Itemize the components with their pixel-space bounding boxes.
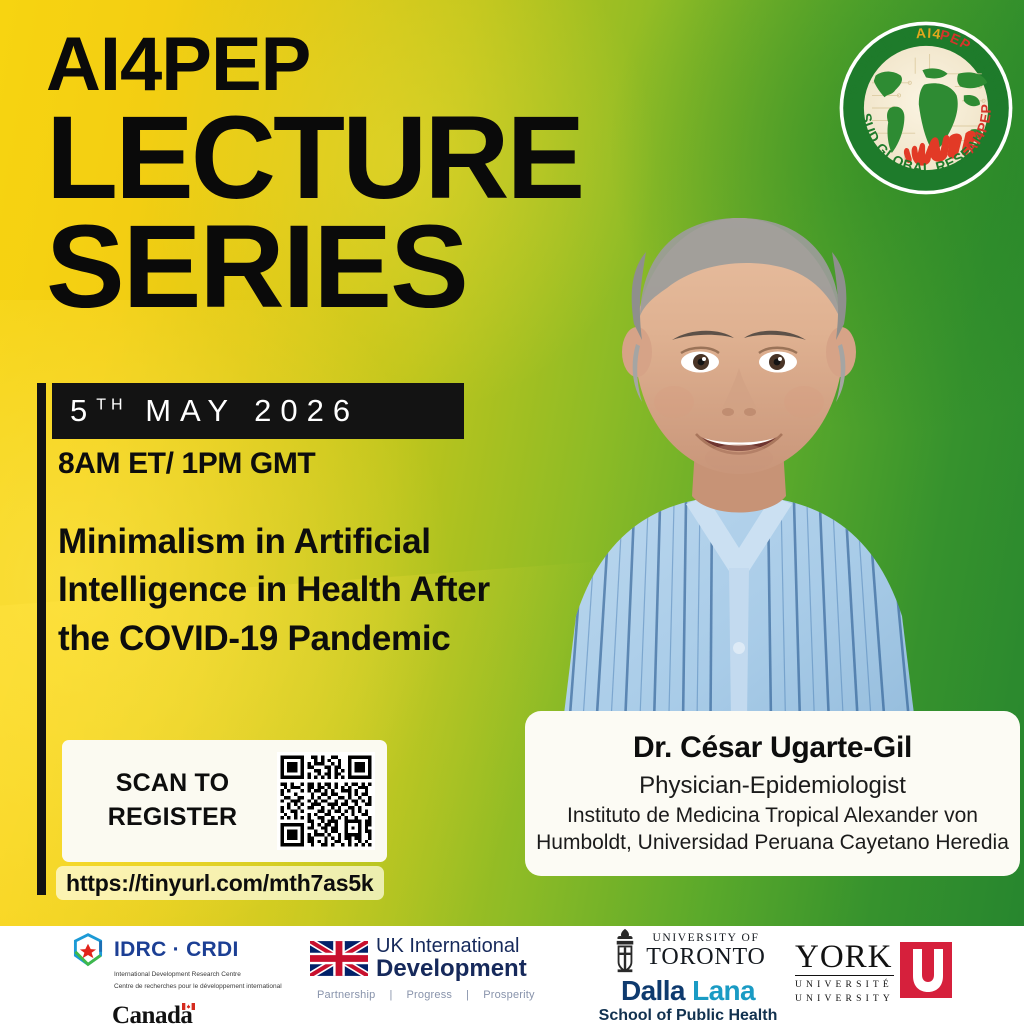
canada-text: Canada xyxy=(112,1002,192,1024)
uoft-crest-icon xyxy=(610,928,640,974)
event-time: 8AM ET/ 1PM GMT xyxy=(58,447,315,481)
logo-ring-text-brand: AI4 xyxy=(915,25,942,43)
uk-international-development-logo: UK International Development Partnership… xyxy=(310,936,535,1001)
idrc-tagline-fr: Centre de recherches pour le développeme… xyxy=(114,982,300,992)
uoft-line-2: TORONTO xyxy=(646,945,765,969)
york-u-mark-icon xyxy=(900,942,952,998)
speaker-role: Physician-Epidemiologist xyxy=(639,772,906,800)
union-jack-icon xyxy=(310,941,368,976)
uk-tagline-sep-1: | xyxy=(389,989,392,1001)
idrc-name: IDRC · CRDI xyxy=(114,938,239,962)
uk-logo-line-1: UK International xyxy=(376,936,527,956)
event-date-band: 5TH MAY 2026 xyxy=(52,383,464,439)
uk-tagline: Partnership|Progress|Prosperity xyxy=(310,989,535,1001)
brand-title: AI4PEP xyxy=(46,28,686,102)
headline-line-1: LECTURE xyxy=(46,104,686,213)
dalla-lana-subtitle: School of Public Health xyxy=(578,1007,798,1024)
york-name: YORK xyxy=(795,942,894,973)
sponsor-footer: IDRC · CRDI International Development Re… xyxy=(0,926,1024,1024)
dalla-word-2: Lana xyxy=(692,975,755,1006)
speaker-affiliation: Instituto de Medicina Tropical Alexander… xyxy=(535,803,1010,857)
speaker-info-card: Dr. César Ugarte-Gil Physician-Epidemiol… xyxy=(525,711,1020,876)
event-date-text: 5TH MAY 2026 xyxy=(52,393,359,429)
york-name-en: UNIVERSITY xyxy=(795,993,894,1006)
idrc-logo: IDRC · CRDI International Development Re… xyxy=(70,932,300,1024)
dalla-lana-name: Dalla Lana xyxy=(578,975,798,1007)
uk-tagline-3: Prosperity xyxy=(483,989,535,1001)
headline-line-2: SERIES xyxy=(46,213,686,322)
york-name-fr: UNIVERSITÉ xyxy=(795,975,894,993)
york-university-logo: YORK UNIVERSITÉ UNIVERSITY xyxy=(795,942,952,1006)
qr-code[interactable] xyxy=(277,752,375,850)
speaker-name: Dr. César Ugarte-Gil xyxy=(633,731,912,765)
university-of-toronto-logo: UNIVERSITY OF TORONTO Dalla Lana School … xyxy=(578,928,798,1024)
vertical-accent-rule xyxy=(37,383,46,895)
uk-tagline-1: Partnership xyxy=(317,989,375,1001)
idrc-mark-icon xyxy=(70,932,106,968)
event-month-year: MAY 2026 xyxy=(145,393,359,428)
registration-url: https://tinyurl.com/mth7as5k xyxy=(66,870,374,897)
lecture-title: Minimalism in Artificial Intelligence in… xyxy=(58,518,548,663)
uk-tagline-sep-2: | xyxy=(466,989,469,1001)
canada-flag-icon xyxy=(182,1003,195,1010)
uk-tagline-2: Progress xyxy=(407,989,453,1001)
event-day: 5 xyxy=(70,393,96,428)
dalla-word-1: Dalla xyxy=(621,975,685,1006)
uk-logo-line-2: Development xyxy=(376,956,527,981)
scan-to-register-label: SCAN TO REGISTER xyxy=(62,767,277,835)
lecture-series-poster: AI4PEP LECTURE SERIES 5TH MAY 2026 8AM E… xyxy=(0,0,1024,1024)
canada-wordmark: Canada xyxy=(112,1002,192,1024)
ai4pep-network-logo-icon: ·GLOBAL SOUTH AI4 PEP NETWORK· SUD GLOBA… xyxy=(836,18,1016,198)
idrc-tagline-en: International Development Research Centr… xyxy=(114,970,300,980)
poster-headline: AI4PEP LECTURE SERIES xyxy=(46,28,686,322)
event-day-suffix: TH xyxy=(96,397,127,414)
scan-to-register-box[interactable]: SCAN TO REGISTER xyxy=(62,740,387,862)
registration-url-pill[interactable]: https://tinyurl.com/mth7as5k xyxy=(56,866,384,900)
